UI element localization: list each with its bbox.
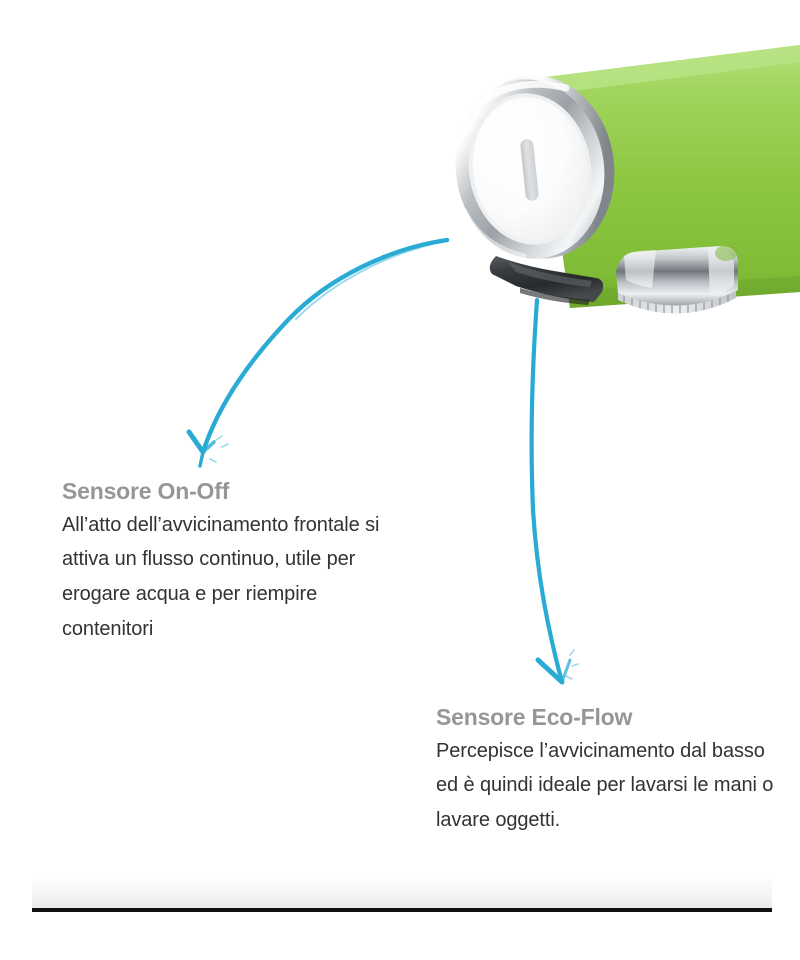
callout-eco-flow-title: Sensore Eco-Flow bbox=[436, 704, 776, 732]
callout-on-off-body: All’atto dell’avvicinamento frontale si … bbox=[62, 508, 392, 647]
footer-fade bbox=[32, 876, 772, 908]
product-illustration bbox=[420, 40, 800, 380]
faucet-aerator-spout bbox=[616, 245, 738, 332]
callout-eco-flow-body: Percepisce l’avvicinamento dal basso ed … bbox=[436, 734, 776, 838]
footer-divider bbox=[32, 908, 772, 912]
callout-on-off: Sensore On-Off All’atto dell’avvicinamen… bbox=[62, 478, 392, 647]
callout-eco-flow: Sensore Eco-Flow Percepisce l’avviciname… bbox=[436, 704, 776, 838]
callout-on-off-title: Sensore On-Off bbox=[62, 478, 392, 506]
page-root: Sensore On-Off All’atto dell’avvicinamen… bbox=[0, 0, 800, 960]
arrow-to-on-off-sensor bbox=[189, 240, 447, 466]
